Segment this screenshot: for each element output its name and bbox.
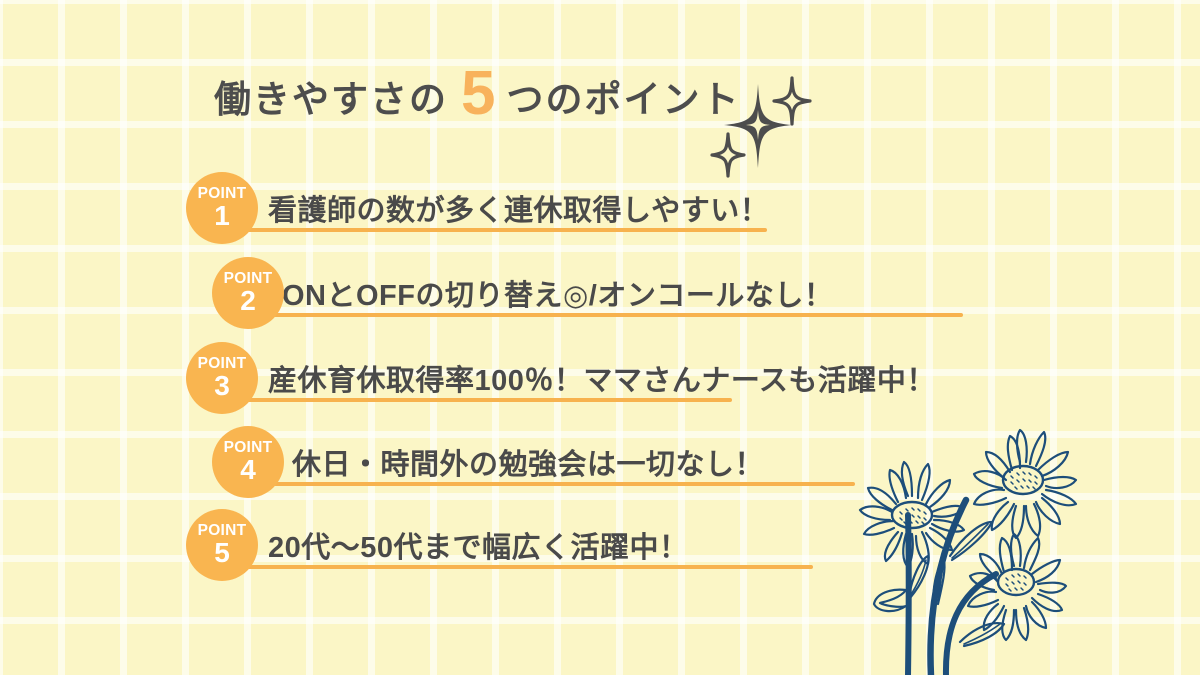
title-prefix: 働きやすさの (214, 69, 448, 123)
badge-word: POINT (198, 523, 247, 539)
point-row: POINT1看護師の数が多く連休取得しやすい！ (0, 172, 1200, 256)
badge-word: POINT (198, 186, 247, 202)
point-badge-4: POINT4 (212, 426, 284, 498)
badge-word: POINT (198, 356, 247, 372)
sparkle-stars-icon (700, 72, 820, 182)
point-badge-2: POINT2 (212, 257, 284, 329)
badge-number: 5 (214, 539, 230, 567)
point-badge-5: POINT5 (186, 509, 258, 581)
point-text: 20代〜50代まで幅広く活躍中！ (268, 523, 689, 567)
point-text: 産休育休取得率100％！ママさんナースも活躍中！ (268, 356, 936, 400)
badge-word: POINT (224, 271, 273, 287)
badge-number: 2 (240, 287, 256, 315)
point-badge-3: POINT3 (186, 342, 258, 414)
point-badge-1: POINT1 (186, 172, 258, 244)
badge-number: 3 (214, 372, 230, 400)
slide-canvas: 働きやすさの 5 つのポイント POINT1看護師の数が多く連休取得しやすい！P… (0, 0, 1200, 675)
title-area: 働きやすさの 5 つのポイント (0, 48, 1200, 144)
point-text: 休日・時間外の勉強会は一切なし！ (292, 440, 764, 484)
badge-number: 4 (240, 456, 256, 484)
point-text: ONとOFFの切り替え◎/オンコールなし！ (282, 271, 833, 315)
point-text: 看護師の数が多く連休取得しやすい！ (268, 186, 769, 230)
title-number: 5 (448, 63, 506, 125)
daisy-flowers-illustration (846, 414, 1146, 675)
badge-number: 1 (214, 202, 230, 230)
badge-word: POINT (224, 440, 273, 456)
point-row: POINT2ONとOFFの切り替え◎/オンコールなし！ (0, 257, 1200, 341)
page-title: 働きやすさの 5 つのポイント (214, 48, 740, 144)
